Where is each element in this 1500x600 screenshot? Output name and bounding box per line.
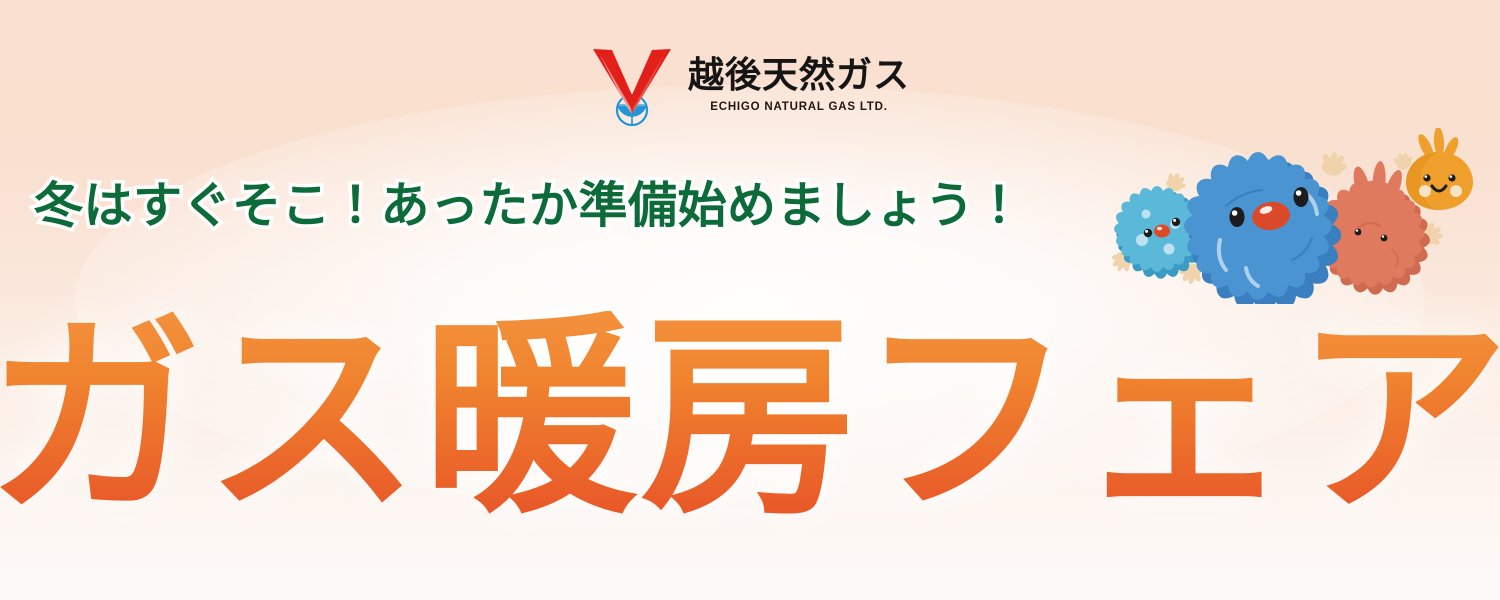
big-blue-fluff-mascot [1184, 152, 1342, 304]
mascot-characters-illustration [1096, 128, 1496, 304]
yellow-sprout-mascot [1406, 128, 1473, 210]
main-title-area: ガス暖房フェア [0, 288, 1500, 548]
company-logo: 越後天然ガス ECHIGO NATURAL GAS LTD. [0, 46, 1500, 126]
company-name-jp: 越後天然ガス [688, 56, 910, 94]
mascot-group [1096, 128, 1496, 304]
tagline: 冬はすぐそこ！あったか準備始めましょう！ [34, 182, 1024, 231]
gas-heating-fair-banner: 越後天然ガス ECHIGO NATURAL GAS LTD. 冬はすぐそこ！あっ… [0, 0, 1500, 600]
echigo-v-globe-mark [590, 46, 674, 126]
logo-text-column: 越後天然ガス ECHIGO NATURAL GAS LTD. [688, 46, 910, 113]
main-title: ガス暖房フェア [0, 311, 1500, 525]
company-name-en: ECHIGO NATURAL GAS LTD. [710, 101, 887, 113]
